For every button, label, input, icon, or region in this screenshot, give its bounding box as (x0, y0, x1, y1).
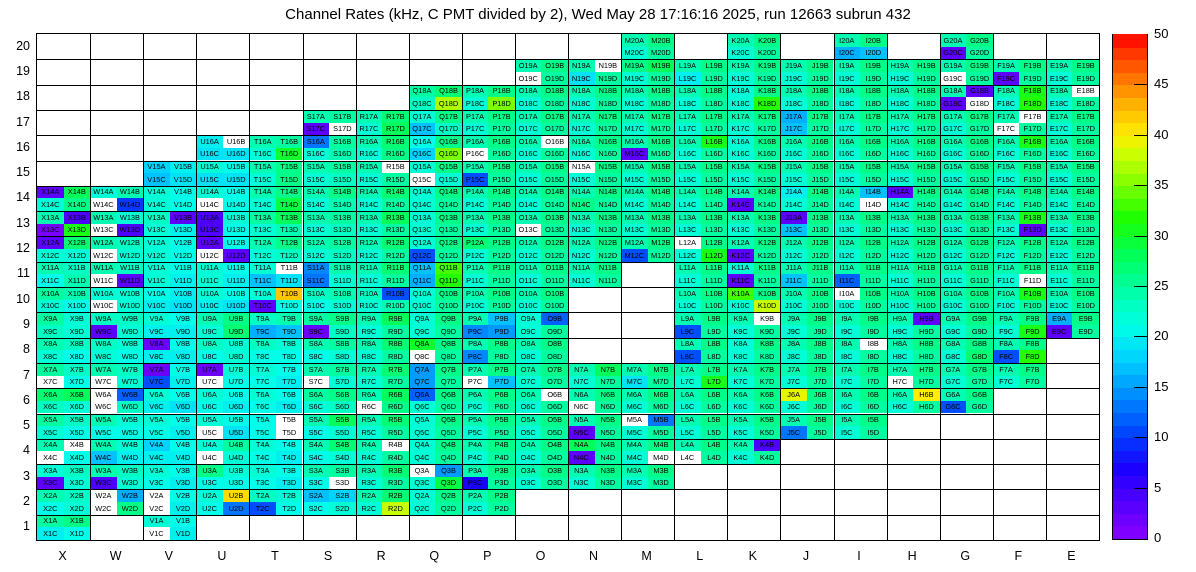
heatmap-cell: J15D (807, 173, 834, 186)
heatmap-cell: Q5B (435, 414, 462, 427)
heatmap-cell: Q6B (435, 388, 462, 401)
heatmap-cell: F8A (993, 338, 1020, 351)
heatmap-cell: F17D (1019, 123, 1046, 136)
colorbar-segment (1113, 72, 1147, 85)
heatmap-cell: M17D (648, 123, 675, 136)
heatmap-cell: K17C (727, 123, 754, 136)
heatmap-cell: R2A (356, 489, 383, 502)
heatmap-cell: P18C (462, 97, 489, 110)
colorbar-tick-label-20: 20 (1154, 328, 1194, 343)
heatmap-cell: O14B (541, 186, 568, 199)
heatmap-cell: H8C (887, 350, 914, 363)
heatmap-cell: V2B (170, 489, 197, 502)
heatmap-cell: P13C (462, 224, 489, 237)
heatmap-cell: S5B (329, 414, 356, 427)
colorbar-tick-label-40: 40 (1154, 127, 1194, 142)
heatmap-cell: Q18C (409, 97, 436, 110)
heatmap-cell: E15C (1046, 173, 1073, 186)
colorbar-segment (1113, 412, 1147, 425)
heatmap-cell: J16D (807, 148, 834, 161)
heatmap-cell: T16B (276, 135, 303, 148)
heatmap-cell: M5C (621, 426, 648, 439)
heatmap-cell: J14A (780, 186, 807, 199)
heatmap-cell: F10D (1019, 300, 1046, 313)
heatmap-cell: I20D (860, 47, 887, 60)
heatmap-cell: E16C (1046, 148, 1073, 161)
heatmap-cell: K8C (727, 350, 754, 363)
heatmap-cell: L17B (701, 110, 728, 123)
heatmap-cell: O15D (541, 173, 568, 186)
heatmap-cell: K19C (727, 72, 754, 85)
heatmap-cell: T15B (276, 161, 303, 174)
heatmap-cell: R16B (382, 135, 409, 148)
heatmap-cell: Q14B (435, 186, 462, 199)
heatmap-cell: X2A (37, 489, 64, 502)
heatmap-cell: F10B (1019, 287, 1046, 300)
heatmap-cell: G6A (940, 388, 967, 401)
heatmap-cell: U13C (196, 224, 223, 237)
heatmap-cell: G14A (940, 186, 967, 199)
heatmap-cell: T4C (249, 451, 276, 464)
heatmap-cell: R14A (356, 186, 383, 199)
heatmap-cell: G12D (966, 249, 993, 262)
colorbar-segment (1113, 97, 1147, 110)
heatmap-cell: R8B (382, 338, 409, 351)
heatmap-cell: W8A (90, 338, 117, 351)
heatmap-cell: K12D (754, 249, 781, 262)
heatmap-cell: Q5D (435, 426, 462, 439)
heatmap-cell: E16D (1072, 148, 1099, 161)
heatmap-cell: P11C (462, 274, 489, 287)
heatmap-cell: K8A (727, 338, 754, 351)
heatmap-cell: H16C (887, 148, 914, 161)
heatmap-cell: G6C (940, 401, 967, 414)
heatmap-cell: M6A (621, 388, 648, 401)
heatmap-cell: X7B (64, 363, 91, 376)
heatmap-cell: X14C (37, 198, 64, 211)
heatmap-cell: T16D (276, 148, 303, 161)
heatmap-cell: U16A (196, 135, 223, 148)
heatmap-cell: L7B (701, 363, 728, 376)
heatmap-cell: G15D (966, 173, 993, 186)
colorbar-segment (1113, 110, 1147, 123)
heatmap-cell: P16C (462, 148, 489, 161)
heatmap-cell: N3B (595, 464, 622, 477)
heatmap-cell: H17D (913, 123, 940, 136)
heatmap-cell: J5B (807, 414, 834, 427)
heatmap-cell: S4A (303, 439, 330, 452)
heatmap-cell: R7B (382, 363, 409, 376)
heatmap-cell: E17A (1046, 110, 1073, 123)
heatmap-cell: V3B (170, 464, 197, 477)
heatmap-cell: G10D (966, 300, 993, 313)
heatmap-cell: T11A (249, 262, 276, 275)
heatmap-cell: L6C (674, 401, 701, 414)
heatmap-cell: H7D (913, 376, 940, 389)
heatmap-cell: K10C (727, 300, 754, 313)
colorbar-segment (1113, 463, 1147, 476)
heatmap-cell: U12A (196, 236, 223, 249)
heatmap-cell: G13D (966, 224, 993, 237)
heatmap-cell: G17B (966, 110, 993, 123)
heatmap-cell: H14B (913, 186, 940, 199)
heatmap-cell: M15D (648, 173, 675, 186)
heatmap-cell: H12D (913, 249, 940, 262)
heatmap-cell: L19C (674, 72, 701, 85)
heatmap-cell: U4C (196, 451, 223, 464)
heatmap-cell: M13C (621, 224, 648, 237)
heatmap-cell: N16D (595, 148, 622, 161)
heatmap-cell: N12D (595, 249, 622, 262)
heatmap-cell: G18B (966, 85, 993, 98)
heatmap-cell: T15A (249, 161, 276, 174)
heatmap-cell: Q3A (409, 464, 436, 477)
heatmap-cell: O4C (515, 451, 542, 464)
heatmap-cell: I5D (860, 426, 887, 439)
heatmap-cell: L5A (674, 414, 701, 427)
heatmap-cell: W4C (90, 451, 117, 464)
heatmap-cell: F13B (1019, 211, 1046, 224)
heatmap-cell: H8B (913, 338, 940, 351)
heatmap-cell: G7B (966, 363, 993, 376)
heatmap-cell: F14C (993, 198, 1020, 211)
heatmap-cell: V2D (170, 502, 197, 515)
heatmap-cell: S3A (303, 464, 330, 477)
heatmap-cell: X6B (64, 388, 91, 401)
heatmap-cell: S11D (329, 274, 356, 287)
heatmap-cell: Q7B (435, 363, 462, 376)
heatmap-cell: M15C (621, 173, 648, 186)
heatmap-cell: P16B (488, 135, 515, 148)
heatmap-cell: I13B (860, 211, 887, 224)
heatmap-cell: H13D (913, 224, 940, 237)
heatmap-cell: L4C (674, 451, 701, 464)
heatmap-cell: I16D (860, 148, 887, 161)
heatmap-cell: V15A (143, 161, 170, 174)
heatmap-cell: E15D (1072, 173, 1099, 186)
heatmap-cell: H10A (887, 287, 914, 300)
colorbar-segment (1113, 173, 1147, 186)
heatmap-cell: F10C (993, 300, 1020, 313)
heatmap-cell: W8C (90, 350, 117, 363)
heatmap-cell: L16B (701, 135, 728, 148)
heatmap-cell: W10D (117, 300, 144, 313)
heatmap-cell: L12B (701, 236, 728, 249)
heatmap-cell: R14C (356, 198, 383, 211)
y-tick-label-16: 16 (2, 140, 30, 154)
heatmap-cell: Q17B (435, 110, 462, 123)
heatmap-cell: I15C (834, 173, 861, 186)
heatmap-cell: I15B (860, 161, 887, 174)
heatmap-cell: X4C (37, 451, 64, 464)
heatmap-cell: I20C (834, 47, 861, 60)
heatmap-cell: I18D (860, 97, 887, 110)
heatmap-cell: W11D (117, 274, 144, 287)
colorbar-segment (1113, 198, 1147, 211)
heatmap-cell: Q11D (435, 274, 462, 287)
heatmap-cell: T12D (276, 249, 303, 262)
heatmap-cell: M5B (648, 414, 675, 427)
heatmap-cell: N18B (595, 85, 622, 98)
heatmap-cell: J13A (780, 211, 807, 224)
heatmap-cell: V7D (170, 376, 197, 389)
heatmap-cell: V5B (170, 414, 197, 427)
heatmap-cell: F17B (1019, 110, 1046, 123)
heatmap-cell: R7A (356, 363, 383, 376)
heatmap-cell: O12D (541, 249, 568, 262)
heatmap-plot-area: X1AX1BX1CX1DV1AV1BV1CV1DX2AX2BX2CX2DW2AW… (36, 33, 1100, 541)
heatmap-cell: N6D (595, 401, 622, 414)
heatmap-cell: O16D (541, 148, 568, 161)
heatmap-cell: T5D (276, 426, 303, 439)
heatmap-cell: J14D (807, 198, 834, 211)
heatmap-cell: K5B (754, 414, 781, 427)
y-tick-label-10: 10 (2, 292, 30, 306)
heatmap-cell: Q16A (409, 135, 436, 148)
heatmap-cell: O7D (541, 376, 568, 389)
heatmap-cell: F7A (993, 363, 1020, 376)
heatmap-cell: J14C (780, 198, 807, 211)
heatmap-cell: I19A (834, 59, 861, 72)
heatmap-cell: E16B (1072, 135, 1099, 148)
heatmap-cell: S14B (329, 186, 356, 199)
heatmap-cell: K13A (727, 211, 754, 224)
heatmap-cell: T14D (276, 198, 303, 211)
heatmap-cell: Q17C (409, 123, 436, 136)
heatmap-cell: Q2D (435, 502, 462, 515)
heatmap-cell: I10D (860, 300, 887, 313)
heatmap-cell: F15A (993, 161, 1020, 174)
heatmap-cell: X11D (64, 274, 91, 287)
heatmap-cell: X12C (37, 249, 64, 262)
heatmap-cell: I8C (834, 350, 861, 363)
heatmap-cell: L18A (674, 85, 701, 98)
heatmap-cell: Q10D (435, 300, 462, 313)
heatmap-cell: O14D (541, 198, 568, 211)
heatmap-cell: G19B (966, 59, 993, 72)
heatmap-cell: F12C (993, 249, 1020, 262)
heatmap-cell: L18D (701, 97, 728, 110)
heatmap-cell: L17A (674, 110, 701, 123)
heatmap-cell: O12C (515, 249, 542, 262)
heatmap-cell: L17C (674, 123, 701, 136)
heatmap-cell: U14A (196, 186, 223, 199)
heatmap-cell: P2B (488, 489, 515, 502)
heatmap-cell: S9C (303, 325, 330, 338)
heatmap-cell: W12B (117, 236, 144, 249)
heatmap-cell: J8C (780, 350, 807, 363)
heatmap-cell: J7D (807, 376, 834, 389)
heatmap-cell: T4B (276, 439, 303, 452)
heatmap-cell: P18B (488, 85, 515, 98)
heatmap-cell: U15B (223, 161, 250, 174)
heatmap-cell: G8A (940, 338, 967, 351)
heatmap-cell: U10B (223, 287, 250, 300)
heatmap-cell: F19C (993, 72, 1020, 85)
heatmap-cell: E13D (1072, 224, 1099, 237)
heatmap-cell: S12B (329, 236, 356, 249)
heatmap-cell: U2D (223, 502, 250, 515)
heatmap-cell: V2A (143, 489, 170, 502)
heatmap-cell: G14B (966, 186, 993, 199)
colorbar-segment (1113, 526, 1147, 539)
heatmap-cell: S7D (329, 376, 356, 389)
heatmap-cell: L9C (674, 325, 701, 338)
heatmap-cell: I17A (834, 110, 861, 123)
heatmap-cell: E12A (1046, 236, 1073, 249)
heatmap-cell: O6D (541, 401, 568, 414)
heatmap-cell: N16B (595, 135, 622, 148)
heatmap-cell: M13B (648, 211, 675, 224)
heatmap-cell: G14C (940, 198, 967, 211)
heatmap-cell: M12A (621, 236, 648, 249)
heatmap-cell: F15C (993, 173, 1020, 186)
heatmap-cell: K18B (754, 85, 781, 98)
heatmap-cell: R6B (382, 388, 409, 401)
colorbar-segment (1113, 34, 1147, 47)
heatmap-cell: T2B (276, 489, 303, 502)
heatmap-cell: X1A (37, 515, 64, 528)
heatmap-cell: Q13C (409, 224, 436, 237)
heatmap-cell: Q4A (409, 439, 436, 452)
heatmap-cell: R13B (382, 211, 409, 224)
heatmap-cell: R4D (382, 451, 409, 464)
heatmap-cell: J6D (807, 401, 834, 414)
heatmap-cell: W11B (117, 262, 144, 275)
heatmap-cell: V13A (143, 211, 170, 224)
heatmap-cell: N5B (595, 414, 622, 427)
colorbar-tick-label-0: 0 (1154, 530, 1194, 545)
heatmap-cell: Q15C (409, 173, 436, 186)
colorbar-segment (1113, 274, 1147, 287)
heatmap-cell: I11A (834, 262, 861, 275)
heatmap-cell: I10C (834, 300, 861, 313)
heatmap-cell: T3C (249, 477, 276, 490)
heatmap-cell: F8B (1019, 338, 1046, 351)
heatmap-cell: N16C (568, 148, 595, 161)
heatmap-cell: I6D (860, 401, 887, 414)
heatmap-cell: O9A (515, 312, 542, 325)
heatmap-cell: I9A (834, 312, 861, 325)
heatmap-cell: F8D (1019, 350, 1046, 363)
heatmap-cell: K11B (754, 262, 781, 275)
heatmap-cell: S11A (303, 262, 330, 275)
heatmap-cell: O19D (541, 72, 568, 85)
heatmap-cell: S12C (303, 249, 330, 262)
heatmap-cell: F17C (993, 123, 1020, 136)
heatmap-cell: O15A (515, 161, 542, 174)
heatmap-cell: S10B (329, 287, 356, 300)
heatmap-cell: L17D (701, 123, 728, 136)
colorbar-segment (1113, 123, 1147, 136)
heatmap-cell: R9A (356, 312, 383, 325)
heatmap-cell: Q7A (409, 363, 436, 376)
heatmap-cell: V11C (143, 274, 170, 287)
heatmap-cell: U10A (196, 287, 223, 300)
heatmap-cell: P9C (462, 325, 489, 338)
heatmap-cell: X12A (37, 236, 64, 249)
heatmap-cell: S15C (303, 173, 330, 186)
heatmap-cell: G16A (940, 135, 967, 148)
heatmap-cell: X13D (64, 224, 91, 237)
heatmap-cell: G7D (966, 376, 993, 389)
heatmap-cell: W9C (90, 325, 117, 338)
heatmap-cell: L14D (701, 198, 728, 211)
heatmap-cell: K14A (727, 186, 754, 199)
heatmap-cell: X4B (64, 439, 91, 452)
heatmap-cell: Q13D (435, 224, 462, 237)
heatmap-cell: K17D (754, 123, 781, 136)
heatmap-cell: T11B (276, 262, 303, 275)
heatmap-cell: N11D (595, 274, 622, 287)
heatmap-cell: G20A (940, 34, 967, 47)
heatmap-cells: X1AX1BX1CX1DV1AV1BV1CV1DX2AX2BX2CX2DW2AW… (37, 34, 1099, 540)
heatmap-cell: Q12B (435, 236, 462, 249)
heatmap-cell: K6B (754, 388, 781, 401)
heatmap-cell: T4D (276, 451, 303, 464)
heatmap-cell: R2C (356, 502, 383, 515)
heatmap-cell: X3A (37, 464, 64, 477)
heatmap-cell: G15A (940, 161, 967, 174)
colorbar-segment (1113, 513, 1147, 526)
heatmap-cell: O14A (515, 186, 542, 199)
heatmap-cell: G11C (940, 274, 967, 287)
heatmap-cell: W6B (117, 388, 144, 401)
heatmap-cell: L10B (701, 287, 728, 300)
heatmap-cell: R11B (382, 262, 409, 275)
heatmap-cell: V6D (170, 401, 197, 414)
heatmap-cell: U3D (223, 477, 250, 490)
heatmap-cell: K12B (754, 236, 781, 249)
heatmap-cell: G12B (966, 236, 993, 249)
heatmap-cell: P13D (488, 224, 515, 237)
heatmap-cell: M12D (648, 249, 675, 262)
heatmap-cell: J18B (807, 85, 834, 98)
heatmap-cell: W14B (117, 186, 144, 199)
heatmap-cell: G9C (940, 325, 967, 338)
heatmap-cell: G19D (966, 72, 993, 85)
heatmap-cell: J7B (807, 363, 834, 376)
heatmap-cell: G9A (940, 312, 967, 325)
heatmap-cell: P6D (488, 401, 515, 414)
heatmap-cell: O19A (515, 59, 542, 72)
heatmap-cell: P3A (462, 464, 489, 477)
y-tick-label-4: 4 (2, 443, 30, 457)
heatmap-cell: J5D (807, 426, 834, 439)
heatmap-cell: G20D (966, 47, 993, 60)
heatmap-cell: P12D (488, 249, 515, 262)
heatmap-cell: Q2C (409, 502, 436, 515)
heatmap-cell: J14B (807, 186, 834, 199)
heatmap-cell: N7B (595, 363, 622, 376)
heatmap-cell: U3B (223, 464, 250, 477)
heatmap-cell: S16B (329, 135, 356, 148)
heatmap-cell: X2C (37, 502, 64, 515)
heatmap-cell: I7C (834, 376, 861, 389)
heatmap-cell: N13D (595, 224, 622, 237)
heatmap-cell: H6A (887, 388, 914, 401)
heatmap-cell: W5D (117, 426, 144, 439)
heatmap-cell: S4D (329, 451, 356, 464)
heatmap-cell: O18B (541, 85, 568, 98)
heatmap-cell: X9A (37, 312, 64, 325)
heatmap-cell: H15A (887, 161, 914, 174)
heatmap-cell: E19B (1072, 59, 1099, 72)
heatmap-cell: N4B (595, 439, 622, 452)
heatmap-cell: S5A (303, 414, 330, 427)
heatmap-cell: S2C (303, 502, 330, 515)
heatmap-cell: R8D (382, 350, 409, 363)
